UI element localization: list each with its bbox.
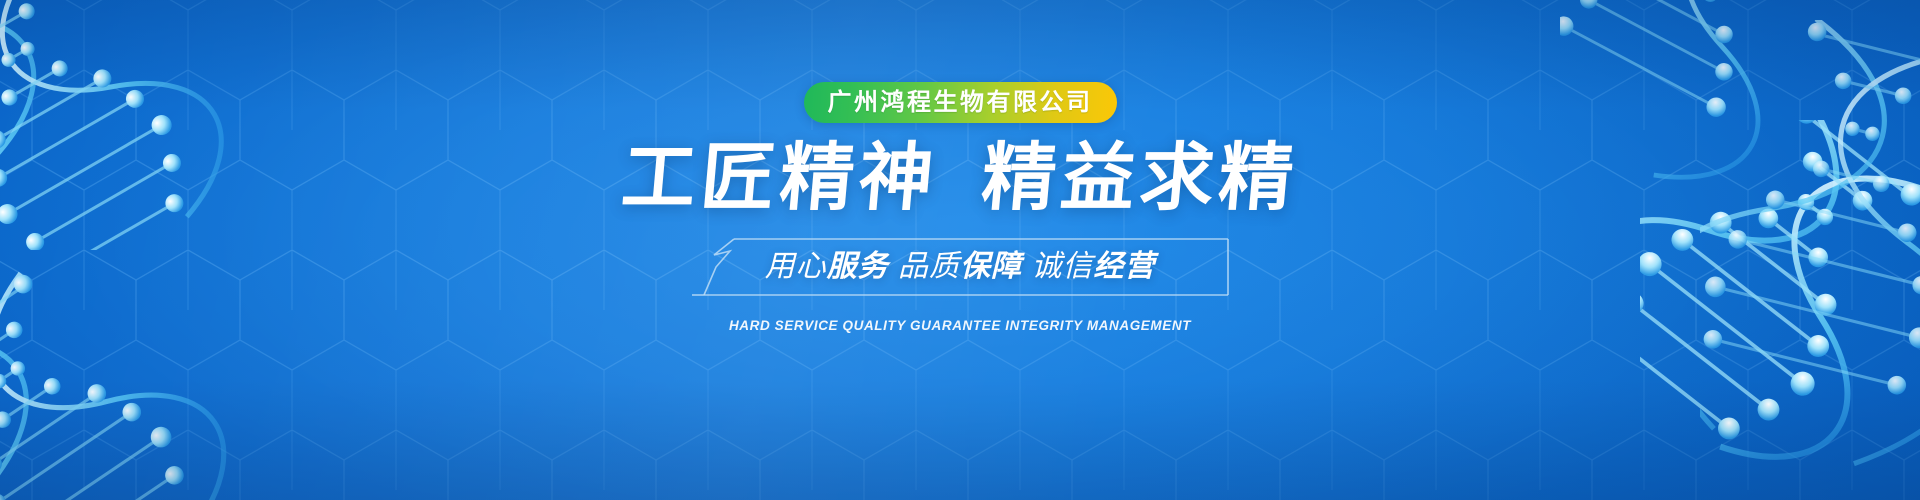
subtitle-ribbon: 用心服务 品质保障 诚信经营: [690, 237, 1230, 297]
headline-left: 工匠精神: [619, 141, 941, 215]
company-name-badge: 广州鸿程生物有限公司: [804, 82, 1117, 123]
subtitle-seg-6: 经营: [1093, 250, 1155, 283]
banner-content: 广州鸿程生物有限公司 工匠精神 精益求精 用心服务: [0, 0, 1920, 500]
promo-banner: 广州鸿程生物有限公司 工匠精神 精益求精 用心服务: [0, 0, 1920, 500]
subtitle-seg-2: 服务: [827, 250, 889, 283]
company-name-label: 广州鸿程生物有限公司: [828, 91, 1093, 115]
headline-right: 精益求精: [979, 141, 1301, 215]
subtitle-seg-5: 诚信: [1022, 250, 1093, 283]
subtitle-seg-1: 用心: [765, 250, 827, 283]
subtitle-seg-3: 品质: [889, 250, 960, 283]
english-tagline: HARD SERVICE QUALITY GUARANTEE INTEGRITY…: [729, 319, 1191, 333]
headline: 工匠精神 精益求精: [622, 141, 1298, 215]
subtitle-seg-4: 保障: [960, 250, 1022, 283]
subtitle-text: 用心服务 品质保障 诚信经营: [765, 252, 1156, 282]
